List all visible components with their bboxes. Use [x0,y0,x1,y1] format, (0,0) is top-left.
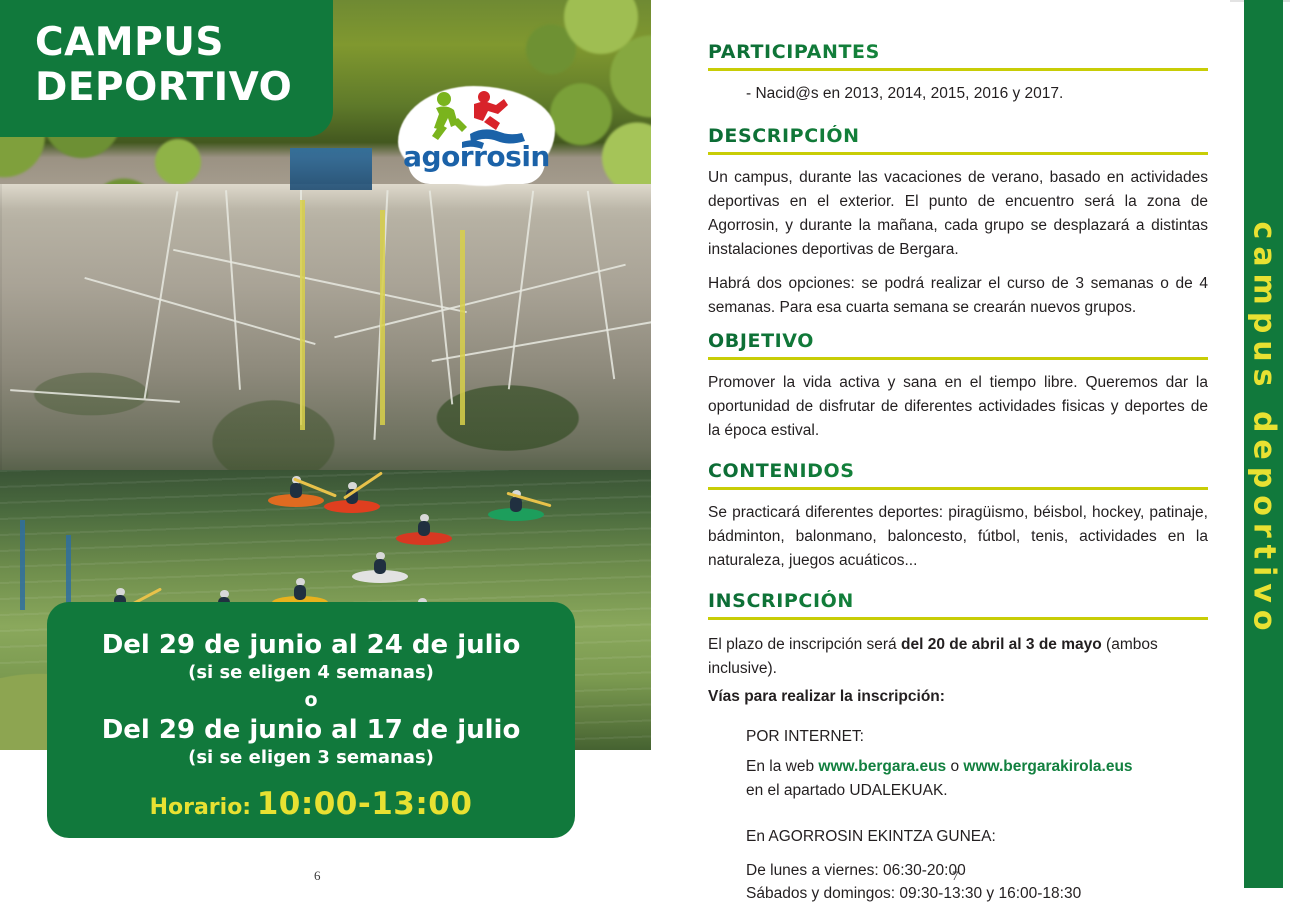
agorrosin-logo: agorrosin [398,86,555,186]
section-participantes: PARTICIPANTES - Nacid@s en 2013, 2014, 2… [708,41,1208,116]
page-number-left: 6 [314,868,321,884]
section-body: - Nacid@s en 2013, 2014, 2015, 2016 y 20… [746,82,1208,106]
dates-info-box: Del 29 de junio al 24 de julio (si se el… [47,602,575,838]
hours-weekend: Sábados y domingos: 09:30-13:30 y 16:00-… [746,882,1208,905]
banner-title-line2: DEPORTIVO [35,65,292,110]
side-tab-campus-deportivo: campus deportivo [1244,0,1283,888]
magazine-spread: CAMPUS DEPORTIVO agorrosin [0,0,1300,888]
section-rule [708,617,1208,620]
side-tab-label: campus deportivo [1247,174,1282,686]
section-heading: INSCRIPCIÓN [708,590,1208,612]
option2-weeks: (si se eligen 3 semanas) [47,746,575,770]
banner-title: CAMPUS DEPORTIVO [35,20,292,110]
contenidos-paragraph: Se practicará diferentes deportes: pirag… [708,501,1208,573]
link-bergara-eus[interactable]: www.bergara.eus [818,758,946,775]
web-line: En la web www.bergara.eus o www.bergarak… [746,755,1208,779]
option1-weeks: (si se eligen 4 semanas) [47,661,575,685]
kayak [488,508,544,521]
descripcion-paragraph-1: Un campus, durante las vacaciones de ver… [708,166,1208,262]
logo-wordmark: agorrosin [398,140,555,173]
section-descripcion: DESCRIPCIÓN Un campus, durante las vacac… [708,125,1208,330]
link-bergarakirola-eus[interactable]: www.bergarakirola.eus [963,758,1132,775]
option1-dates: Del 29 de junio al 24 de julio [47,630,575,661]
web-separator: o [946,758,963,775]
schedule-value: 10:00-13:00 [257,786,473,822]
descripcion-paragraph-2: Habrá dos opciones: se podrá realizar el… [708,272,1208,320]
section-rule [708,152,1208,155]
section-body: Un campus, durante las vacaciones de ver… [708,166,1208,320]
section-rule [708,68,1208,71]
deadline-line: El plazo de inscripción será del 20 de a… [708,633,1208,681]
section-body: El plazo de inscripción será del 20 de a… [708,633,1208,905]
section-heading: DESCRIPCIÓN [708,125,1208,147]
schedule-row: Horario: 10:00-13:00 [47,786,575,822]
section-objetivo: OBJETIVO Promover la vida activa y sana … [708,330,1208,453]
banner-title-line1: CAMPUS [35,20,292,65]
section-body: Promover la vida activa y sana en el tie… [708,371,1208,443]
campus-title-banner: CAMPUS DEPORTIVO [0,0,333,137]
page-number-right: 7 [952,868,959,884]
page-gutter [651,0,660,888]
participants-line: - Nacid@s en 2013, 2014, 2015, 2016 y 20… [746,82,1208,106]
section-rule [708,487,1208,490]
option2-dates: Del 29 de junio al 17 de julio [47,715,575,746]
left-page: CAMPUS DEPORTIVO agorrosin [0,0,651,888]
photo-slalom-gates [0,190,651,590]
inperson-label: En AGORROSIN EKINTZA GUNEA: [746,825,1208,849]
page-right-margin [1290,0,1300,888]
internet-label: POR INTERNET: [746,725,1208,749]
kayak [352,570,408,583]
kayak [324,500,380,513]
deadline-dates: del 20 de abril al 3 de mayo [901,636,1102,653]
section-heading: PARTICIPANTES [708,41,1208,63]
photo-blue-booth [290,148,372,190]
section-heading: OBJETIVO [708,330,1208,352]
kayak [268,494,324,507]
kayak [396,532,452,545]
ways-label: Vías para realizar la inscripción: [708,685,1208,709]
deadline-prefix: El plazo de inscripción será [708,636,901,653]
section-contenidos: CONTENIDOS Se practicará diferentes depo… [708,460,1208,583]
section-body: Se practicará diferentes deportes: pirag… [708,501,1208,573]
section-rule [708,357,1208,360]
web-prefix: En la web [746,758,818,775]
section-inscripcion: INSCRIPCIÓN El plazo de inscripción será… [708,590,1208,905]
hours-weekday: De lunes a viernes: 06:30-20:00 [746,859,1208,882]
section-heading: CONTENIDOS [708,460,1208,482]
internet-block: POR INTERNET: En la web www.bergara.eus … [746,725,1208,905]
options-connector: o [47,685,575,715]
schedule-label: Horario: [150,795,252,820]
web-section-note: en el apartado UDALEKUAK. [746,779,1208,803]
objetivo-paragraph: Promover la vida activa y sana en el tie… [708,371,1208,443]
right-page: PARTICIPANTES - Nacid@s en 2013, 2014, 2… [660,0,1230,888]
